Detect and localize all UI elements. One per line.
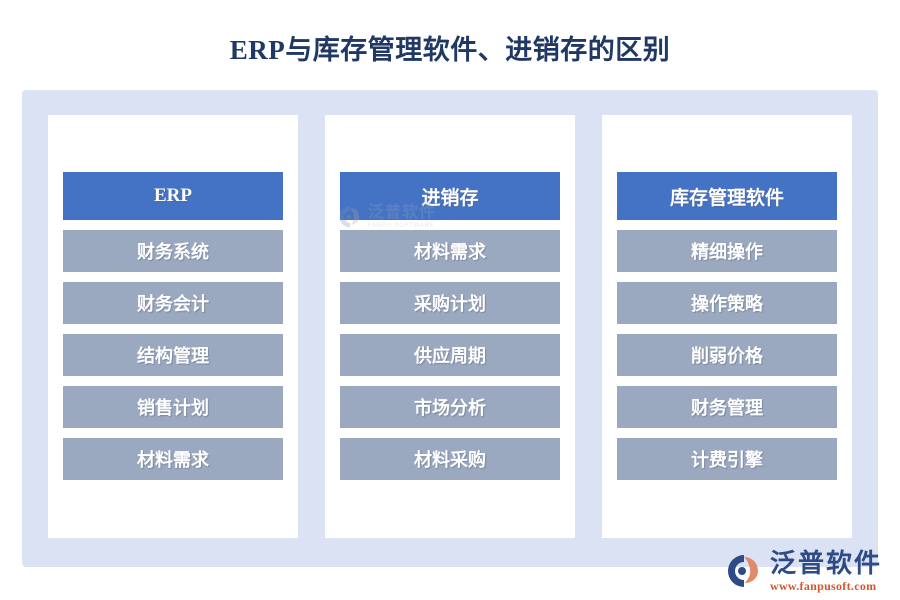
list-item[interactable]: 财务系统 [63,230,283,272]
list-item[interactable]: 市场分析 [340,386,560,428]
list-item[interactable]: 供应周期 [340,334,560,376]
list-item[interactable]: 操作策略 [617,282,837,324]
list-item[interactable]: 精细操作 [617,230,837,272]
list-item[interactable]: 销售计划 [63,386,283,428]
list-item[interactable]: 财务管理 [617,386,837,428]
column-panel-erp: ERP 财务系统 财务会计 结构管理 销售计划 材料需求 [48,115,298,538]
column-header-jinxiaocun[interactable]: 进销存 [340,172,560,220]
list-item[interactable]: 削弱价格 [617,334,837,376]
brand-name-cn: 泛普软件 [770,550,882,576]
column-header-erp[interactable]: ERP [63,172,283,220]
list-item[interactable]: 材料需求 [340,230,560,272]
fanpu-logo-icon [724,551,764,591]
list-item[interactable]: 计费引擎 [617,438,837,480]
watermark-name-en: FANPU SOFTWARE [368,223,436,229]
page-title: ERP与库存管理软件、进销存的区别 [0,28,900,67]
comparison-frame: ERP 财务系统 财务会计 结构管理 销售计划 材料需求 泛普软件 FANPU … [22,90,878,567]
list-item[interactable]: 结构管理 [63,334,283,376]
column-panel-jinxiaocun: 泛普软件 FANPU SOFTWARE 进销存 材料需求 采购计划 供应周期 市… [325,115,575,538]
list-item[interactable]: 财务会计 [63,282,283,324]
list-item[interactable]: 采购计划 [340,282,560,324]
list-item[interactable]: 材料采购 [340,438,560,480]
list-item[interactable]: 材料需求 [63,438,283,480]
brand-url: www.fanpusoft.com [770,580,882,592]
column-panel-inventory-software: 库存管理软件 精细操作 操作策略 削弱价格 财务管理 计费引擎 [602,115,852,538]
column-header-inventory-software[interactable]: 库存管理软件 [617,172,837,220]
brand-logo: 泛普软件 www.fanpusoft.com [724,550,882,592]
